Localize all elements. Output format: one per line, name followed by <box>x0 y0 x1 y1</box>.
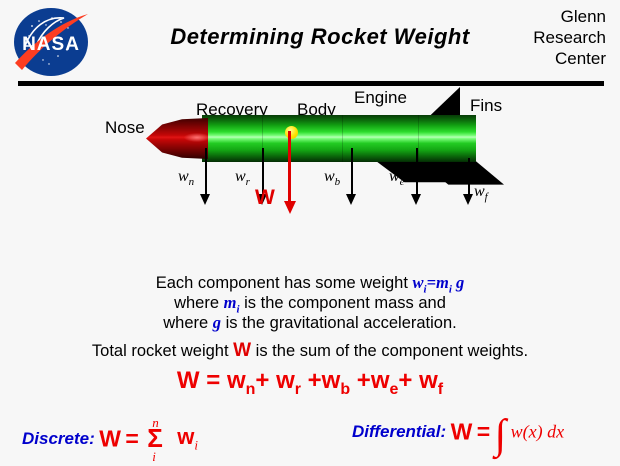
label-nose: Nose <box>105 118 145 138</box>
svg-text:NASA: NASA <box>22 34 80 55</box>
page-root: NASA Determining Rocket Weight Glenn Res… <box>0 0 620 466</box>
center-line-3: Center <box>486 48 606 69</box>
weight-label-recovery: wr <box>235 168 250 188</box>
main-equation: W = wn+ wr +wb +we+ wf <box>0 367 620 399</box>
rocket-tube <box>202 115 476 162</box>
differential-W: W <box>451 419 473 445</box>
discrete-label: Discrete: <box>22 429 95 448</box>
tube-seam <box>418 115 419 162</box>
page-header: NASA Determining Rocket Weight Glenn Res… <box>0 0 620 82</box>
explanation-line-2: where mi is the component mass and <box>0 293 620 315</box>
center-line-2: Research <box>486 27 606 48</box>
total-weight-sentence: Total rocket weight W is the sum of the … <box>0 340 620 362</box>
differential-equals: = <box>477 419 490 445</box>
rocket-body <box>146 115 476 175</box>
explanation-line-3: where g is the gravitational acceleratio… <box>0 313 620 333</box>
summation-symbol: n Σ i <box>143 416 177 462</box>
center-name: Glenn Research Center <box>486 6 606 69</box>
rocket-diagram: Nose Recovery Body Engine Fins <box>0 86 620 266</box>
sigma-lower-limit: i <box>152 449 182 465</box>
weight-label-fins: wf <box>474 183 488 203</box>
total-weight-label: W <box>255 186 275 210</box>
differential-label: Differential: <box>352 422 446 441</box>
weight-label-body: wb <box>324 168 340 188</box>
tube-seam <box>342 115 343 162</box>
sigma-glyph: Σ <box>147 425 163 451</box>
nasa-logo-icon: NASA <box>12 6 90 78</box>
discrete-equals: = <box>125 426 138 452</box>
label-engine: Engine <box>354 88 407 108</box>
integral-icon: ∫ <box>495 412 507 458</box>
weight-label-nose: wn <box>178 168 194 188</box>
integrand: w(x) dx <box>511 422 564 442</box>
explanation-line-1: Each component has some weight wi=mi g <box>0 273 620 295</box>
page-title: Determining Rocket Weight <box>140 24 500 50</box>
discrete-W: W <box>99 426 121 452</box>
nose-highlight <box>184 133 210 142</box>
weight-label-engine: we <box>389 168 405 188</box>
center-of-gravity-dot <box>285 126 298 139</box>
differential-formula: Differential: W = ∫ w(x) dx <box>352 416 564 448</box>
discrete-formula: Discrete: W = n Σ i wi <box>22 416 198 462</box>
label-fins: Fins <box>470 96 502 116</box>
center-line-1: Glenn <box>486 6 606 27</box>
